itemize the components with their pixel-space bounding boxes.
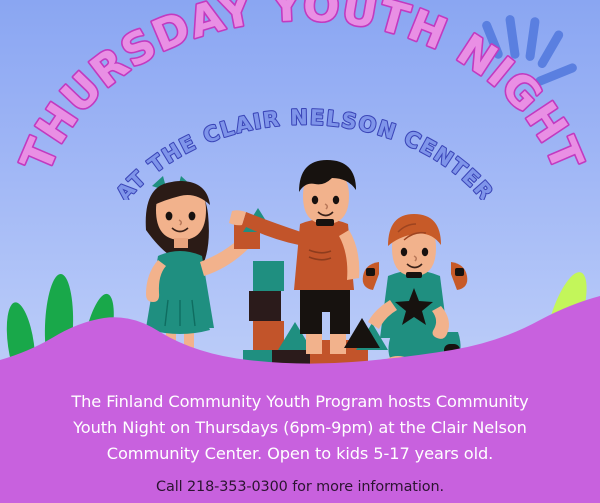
body-line-1: The Finland Community Youth Program host… (40, 389, 560, 415)
body-line-3: Community Center. Open to kids 5-17 year… (40, 441, 560, 467)
body-copy: The Finland Community Youth Program host… (40, 389, 560, 467)
poster-title: THURSDAY YOUTH NIGHT (12, 0, 593, 179)
headline-group: THURSDAY YOUTH NIGHT AT THE CLAIR NELSON… (0, 0, 600, 200)
poster-subtitle: AT THE CLAIR NELSON CENTER (111, 105, 498, 200)
body-line-2: Youth Night on Thursdays (6pm-9pm) at th… (40, 415, 560, 441)
poster-canvas: THURSDAY YOUTH NIGHT AT THE CLAIR NELSON… (0, 0, 600, 503)
call-to-action-line: Call 218-353-0300 for more information. (0, 479, 600, 495)
info-text-block: The Finland Community Youth Program host… (0, 389, 600, 503)
